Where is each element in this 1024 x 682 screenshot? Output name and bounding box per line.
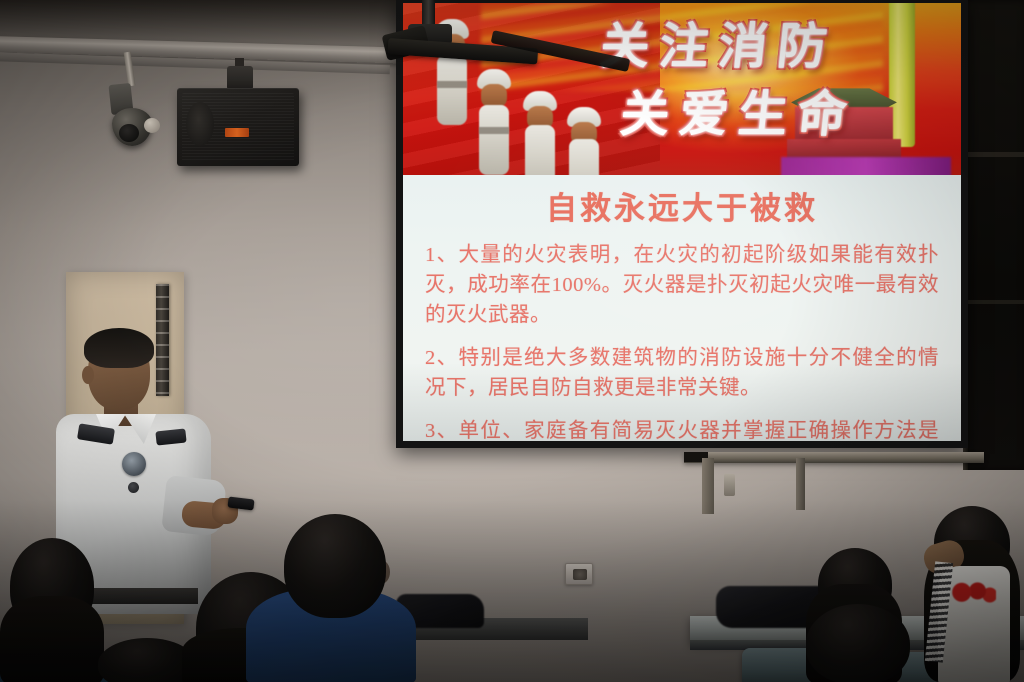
firefighter-body [569,139,599,175]
speaker-driver [186,102,214,146]
wall-speaker [177,88,299,166]
board-rail-post-right [796,458,805,510]
gate-body [795,107,893,141]
presenter-hair [84,328,154,368]
blackboard [963,0,1024,470]
ceiling-fan [396,0,626,80]
banner-purple-band [781,157,951,175]
board-rail [684,452,984,514]
classroom-scene: 关注消防 关爱生命 自救永远大于被救 1、大量的火灾表明，在火灾的初起阶级如果能… [0,0,1024,682]
presenter-ear [82,366,94,384]
slide-content-area: 自救永远大于被救 1、大量的火灾表明，在火灾的初起阶级如果能有效扑灭，成功率在1… [403,175,961,441]
chair-left [742,648,816,682]
tiananmen-gate-illustration [785,83,903,161]
presenter-belt [88,588,198,604]
blackboard-rail-lower [968,300,1024,304]
gate-roof [791,87,897,109]
slide-paragraph-3: 3、单位、家庭备有简易灭火器并掌握正确操作方法是火灾损失降到最低最有效的办法。 [425,416,939,441]
board-rail-peg [724,474,735,496]
firefighter-band [437,81,467,88]
firefighter-body [525,125,555,175]
slide-title: 自救永远大于被救 [425,183,939,228]
audience-head [284,514,386,618]
camera-lens-icon [119,124,139,142]
audience-hair [0,596,104,682]
camera-knob [144,118,160,133]
slide-paragraph-2: 2、特别是绝大多数建筑物的消防设施十分不健全的情况下，居民自防自救更是非常关键。 [425,343,939,403]
board-rail-top [684,452,984,463]
outlet-socket-icon [573,569,587,580]
speaker-mount-bracket [227,66,253,90]
slide-paragraph-1: 1、大量的火灾表明，在火灾的初起阶级如果能有效扑灭，成功率在100%。灭火器是扑… [425,240,939,330]
gate-base [787,139,901,159]
board-rail-post-left [702,458,714,514]
firefighter-body [479,105,509,175]
blackboard-rail-upper [968,152,1024,157]
audience-shirt-graphic [952,578,996,612]
presenter-shirt-button [128,482,139,493]
audience-head [806,604,910,682]
presenter-chest-badge [122,452,146,476]
firefighter-band [479,127,509,134]
speaker-logo-badge [225,128,249,137]
wall-outlet [565,563,593,585]
dome-security-camera [104,66,160,154]
